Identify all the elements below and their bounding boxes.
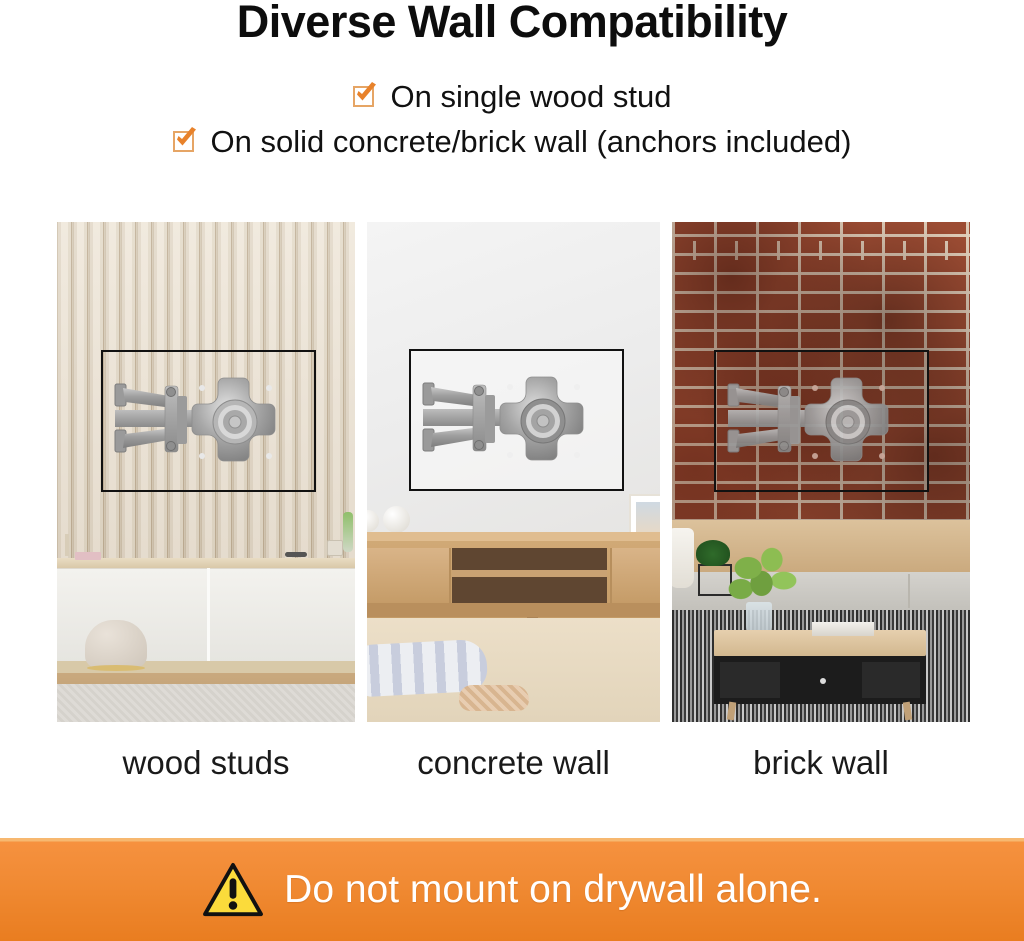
caption-wood-studs: wood studs [57,744,355,782]
coffee-table-shelf-right [862,662,920,698]
coffee-table-shelf-left [720,662,780,698]
warning-banner-text: Do not mount on drywall alone. [284,868,822,912]
decor-pouf [85,620,147,668]
gallery-row [0,222,1024,722]
decor-magazine [812,622,874,636]
decor-remote [285,552,307,557]
page-title: Diverse Wall Compatibility [0,0,1024,50]
caption-brick-wall: brick wall [672,744,970,782]
console-drawer-right [610,548,660,603]
decor-plant [343,512,353,552]
rug [57,684,355,722]
decor-vase [65,534,69,556]
decor-books [75,552,101,560]
caption-concrete-wall: concrete wall [367,744,660,782]
list-item: On solid concrete/brick wall (anchors in… [0,119,1024,164]
pouf-base [87,665,145,671]
list-item: On single wood stud [0,74,1024,119]
articulating-tv-wall-mount [103,352,318,494]
cable [908,574,910,608]
feature-bullet-list: On single wood stud On solid concrete/br… [0,74,1024,164]
decor-vase [672,528,694,588]
list-item-label: On solid concrete/brick wall (anchors in… [211,124,852,160]
gallery-panel-wood-studs [57,222,355,722]
orange-checkbox-icon [353,84,379,110]
console-base [367,603,660,617]
tv-outline-box [409,349,624,491]
gallery-captions: wood studs concrete wall brick wall [0,744,1024,794]
gallery-panel-concrete-wall [367,222,660,722]
decor-sphere [383,506,410,533]
coffee-table-knob [820,678,826,684]
console-top [367,532,660,541]
warning-banner: Do not mount on drywall alone. [0,838,1024,941]
console-shelf-divider [452,570,607,577]
list-item-label: On single wood stud [391,79,672,115]
cabinet-seam [207,568,210,661]
tv-outline-box [101,350,316,492]
console-drawer-left [367,548,451,603]
infographic-page: Diverse Wall Compatibility On single woo… [0,0,1024,941]
decor-large-plant [726,540,800,610]
warning-triangle-icon [202,862,264,918]
wall-socket [327,540,343,556]
decor-potted-plant [696,540,730,566]
gallery-panel-brick-wall [672,222,970,722]
shelf-top [57,558,355,568]
orange-checkbox-icon [173,129,199,155]
articulating-tv-wall-mount [716,352,931,494]
articulating-tv-wall-mount [411,351,626,493]
decor-slippers [459,685,529,711]
tv-outline-box [714,350,929,492]
